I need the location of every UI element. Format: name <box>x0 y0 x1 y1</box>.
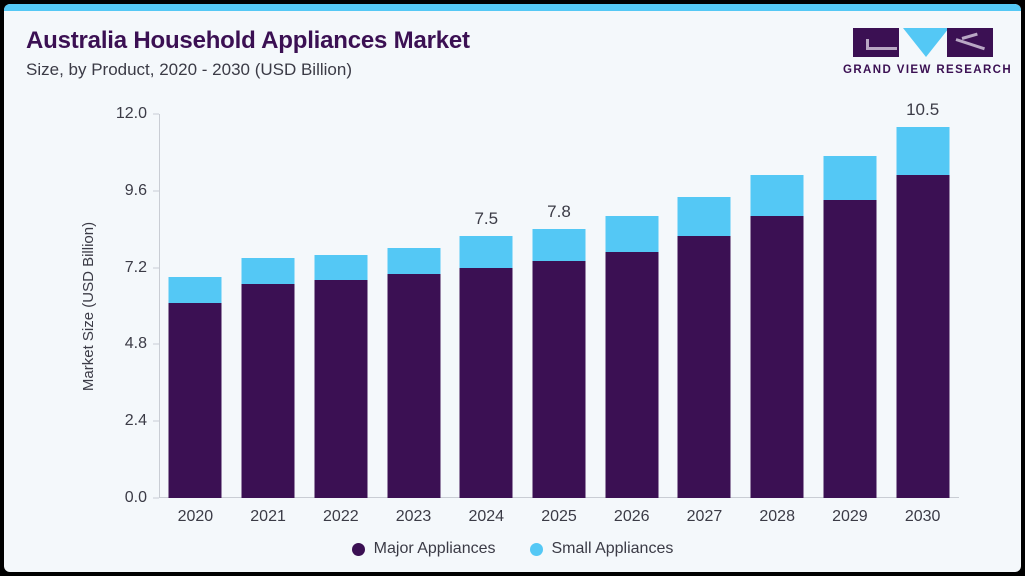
legend-swatch-icon <box>530 543 543 556</box>
bar-group[interactable]: 2029 <box>814 114 887 498</box>
plot-area: 0.02.44.87.29.612.0 20202021202220237.52… <box>159 114 959 498</box>
x-axis-tick-label: 2029 <box>832 508 868 526</box>
bar-group[interactable]: 10.52030 <box>886 114 959 498</box>
bar-segment-major-appliances[interactable] <box>242 284 295 498</box>
y-axis-tick-label: 4.8 <box>9 335 159 353</box>
x-axis-tick-label: 2030 <box>905 508 941 526</box>
x-axis-tick-label: 2023 <box>396 508 432 526</box>
bar-segment-small-appliances[interactable] <box>460 236 513 268</box>
y-axis-tick-label: 9.6 <box>9 182 159 200</box>
chart-subtitle: Size, by Product, 2020 - 2030 (USD Billi… <box>26 58 726 82</box>
legend-item[interactable]: Major Appliances <box>352 540 496 558</box>
bar-value-label: 7.8 <box>547 202 571 222</box>
legend-swatch-icon <box>352 543 365 556</box>
logo-g-mark-icon <box>853 28 899 57</box>
y-axis-tick-label: 7.2 <box>9 259 159 277</box>
x-axis-tick-label: 2027 <box>687 508 723 526</box>
bar-segment-major-appliances[interactable] <box>896 175 949 498</box>
x-axis-tick-label: 2028 <box>759 508 795 526</box>
bar-segment-small-appliances[interactable] <box>314 255 367 281</box>
top-accent-bar <box>4 4 1021 11</box>
bar-segment-major-appliances[interactable] <box>314 280 367 498</box>
bar-group[interactable]: 2028 <box>741 114 814 498</box>
bar-value-label: 7.5 <box>474 209 498 229</box>
bar-group[interactable]: 2023 <box>377 114 450 498</box>
bar-segment-major-appliances[interactable] <box>605 252 658 498</box>
logo-text: GRAND VIEW RESEARCH <box>843 64 1003 76</box>
legend-label: Small Appliances <box>552 540 674 558</box>
bar-value-label: 10.5 <box>906 100 939 120</box>
bar-segment-major-appliances[interactable] <box>532 261 585 498</box>
y-axis-title: Market Size (USD Billion) <box>78 114 100 498</box>
y-axis-title-text: Market Size (USD Billion) <box>81 221 98 390</box>
bar-group[interactable]: 2021 <box>232 114 305 498</box>
y-axis-tick-label: 2.4 <box>9 412 159 430</box>
y-axis-tick-label: 12.0 <box>9 105 159 123</box>
bar-group[interactable]: 2022 <box>304 114 377 498</box>
bar-segment-small-appliances[interactable] <box>387 248 440 274</box>
bar-segment-small-appliances[interactable] <box>242 258 295 284</box>
bar-group[interactable]: 2020 <box>159 114 232 498</box>
bar-segment-major-appliances[interactable] <box>823 200 876 498</box>
chart-legend: Major AppliancesSmall Appliances <box>4 540 1021 558</box>
bar-group[interactable]: 2027 <box>668 114 741 498</box>
bar-segment-small-appliances[interactable] <box>823 156 876 201</box>
x-axis-tick-label: 2021 <box>250 508 286 526</box>
x-axis-tick-label: 2025 <box>541 508 577 526</box>
grand-view-research-logo: GRAND VIEW RESEARCH <box>843 28 1003 78</box>
logo-marks <box>847 28 999 58</box>
bar-segment-major-appliances[interactable] <box>387 274 440 498</box>
legend-item[interactable]: Small Appliances <box>530 540 674 558</box>
y-axis-tick-label: 0.0 <box>9 489 159 507</box>
x-axis-tick-label: 2024 <box>468 508 504 526</box>
bar-group[interactable]: 2026 <box>595 114 668 498</box>
logo-r-mark-icon <box>947 28 993 57</box>
chart-header: Australia Household Appliances Market Si… <box>26 26 726 82</box>
bar-segment-small-appliances[interactable] <box>896 127 949 175</box>
bar-segment-major-appliances[interactable] <box>751 216 804 498</box>
chart-card: Australia Household Appliances Market Si… <box>4 4 1021 572</box>
bar-segment-small-appliances[interactable] <box>605 216 658 251</box>
legend-label: Major Appliances <box>374 540 496 558</box>
bar-segment-major-appliances[interactable] <box>678 236 731 498</box>
page-title: Australia Household Appliances Market <box>26 26 726 56</box>
logo-triangle-icon <box>903 28 949 57</box>
x-axis-tick-label: 2020 <box>178 508 214 526</box>
x-axis-tick-label: 2026 <box>614 508 650 526</box>
bar-segment-small-appliances[interactable] <box>532 229 585 261</box>
bar-segment-major-appliances[interactable] <box>169 303 222 498</box>
bar-group[interactable]: 7.82025 <box>523 114 596 498</box>
x-axis-tick-label: 2022 <box>323 508 359 526</box>
bar-segment-small-appliances[interactable] <box>678 197 731 235</box>
bar-segment-major-appliances[interactable] <box>460 268 513 498</box>
bar-segment-small-appliances[interactable] <box>751 175 804 217</box>
bar-group[interactable]: 7.52024 <box>450 114 523 498</box>
bar-segment-small-appliances[interactable] <box>169 277 222 303</box>
